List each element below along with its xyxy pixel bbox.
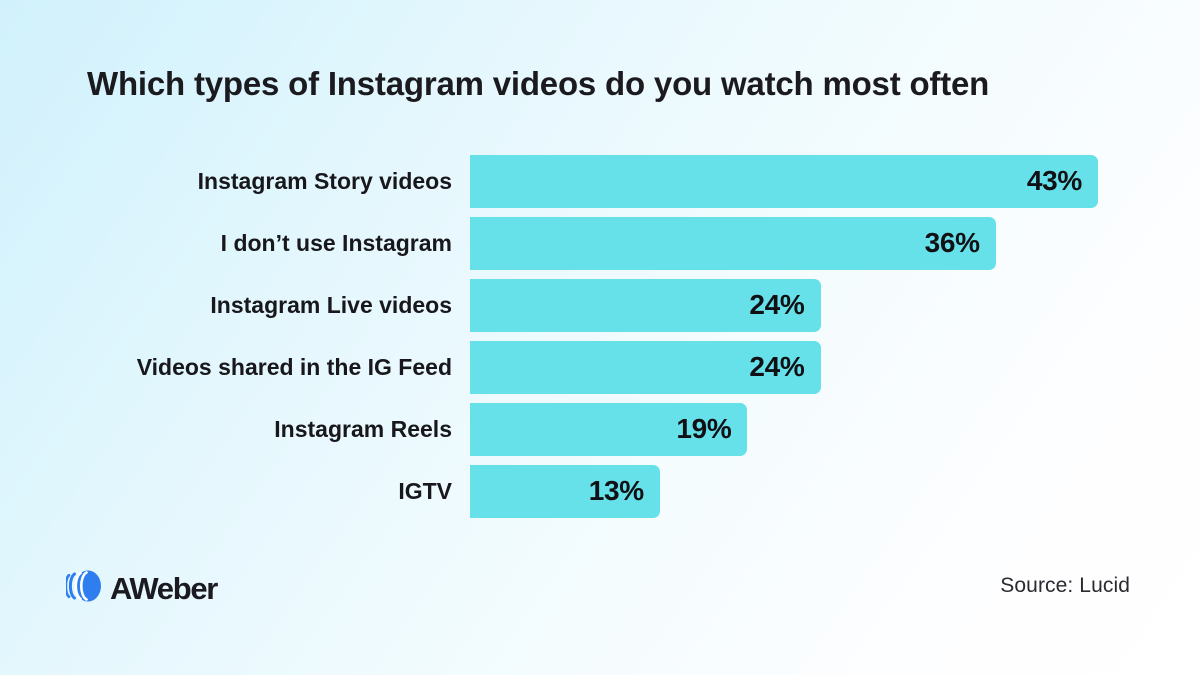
bar-value-label: 24% (749, 341, 804, 394)
bar-row: IGTV 13% (0, 465, 1200, 518)
bar-fill[interactable]: 43% (470, 155, 1098, 208)
bar-value-label: 36% (925, 217, 980, 270)
bar-value-label: 43% (1027, 155, 1082, 208)
bar-category-label: Videos shared in the IG Feed (137, 341, 470, 394)
bar-value-label: 19% (676, 403, 731, 456)
bar-row: I don’t use Instagram 36% (0, 217, 1200, 270)
aweber-wordmark: AWeber (110, 572, 217, 606)
page-title: Which types of Instagram videos do you w… (87, 62, 1127, 106)
bar-track: 19% (470, 403, 1200, 456)
bar-category-label: IGTV (398, 465, 470, 518)
bar-fill[interactable]: 24% (470, 279, 821, 332)
bar-track: 13% (470, 465, 1200, 518)
source-note: Source: Lucid (1000, 574, 1130, 598)
bar-value-label: 13% (589, 465, 644, 518)
infographic-canvas: Which types of Instagram videos do you w… (0, 0, 1200, 675)
bar-row: Instagram Reels 19% (0, 403, 1200, 456)
bar-fill[interactable]: 36% (470, 217, 996, 270)
aweber-mark-icon (66, 568, 106, 609)
bar-category-label: Instagram Story videos (198, 155, 470, 208)
bar-category-label: Instagram Live videos (210, 279, 470, 332)
bar-fill[interactable]: 24% (470, 341, 821, 394)
bar-track: 24% (470, 279, 1200, 332)
bar-category-label: I don’t use Instagram (221, 217, 470, 270)
aweber-logo[interactable]: AWeber (66, 568, 217, 609)
bar-fill[interactable]: 13% (470, 465, 660, 518)
bar-fill[interactable]: 19% (470, 403, 747, 456)
bar-row: Instagram Story videos 43% (0, 155, 1200, 208)
footer: AWeber Source: Lucid (0, 560, 1200, 620)
bar-track: 43% (470, 155, 1200, 208)
bar-value-label: 24% (749, 279, 804, 332)
bar-row: Instagram Live videos 24% (0, 279, 1200, 332)
bar-track: 36% (470, 217, 1200, 270)
bar-track: 24% (470, 341, 1200, 394)
bar-category-label: Instagram Reels (274, 403, 470, 456)
bar-chart: Instagram Story videos 43% I don’t use I… (0, 155, 1200, 530)
bar-row: Videos shared in the IG Feed 24% (0, 341, 1200, 394)
